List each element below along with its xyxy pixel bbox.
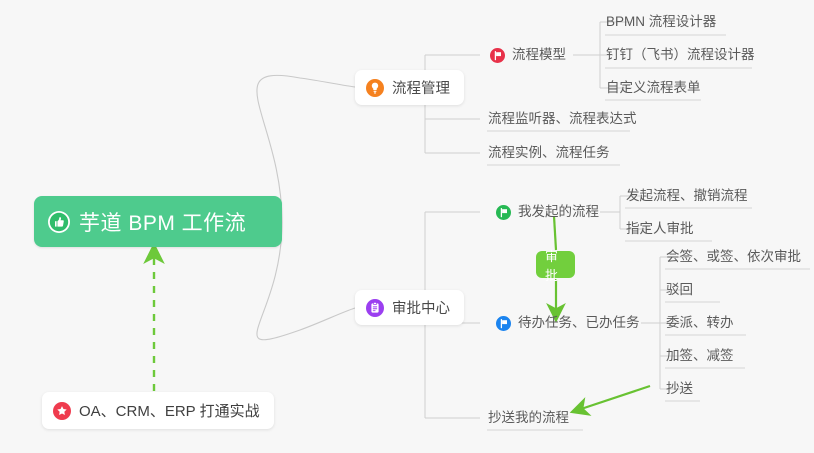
leaf-reject[interactable]: 驳回	[666, 280, 693, 303]
leaf-add-remove-sign[interactable]: 加签、减签	[666, 346, 734, 369]
leaf-dingtalk-designer[interactable]: 钉钉（飞书）流程设计器	[606, 45, 755, 68]
leaf-label: 抄送我的流程	[488, 410, 569, 425]
leaf-label: 会签、或签、依次审批	[666, 249, 801, 264]
leaf-label: 流程实例、流程任务	[488, 145, 610, 160]
flag-icon	[496, 316, 511, 331]
leaf-delegate-transfer[interactable]: 委派、转办	[666, 313, 734, 336]
branch-label-process-management: 流程管理	[392, 77, 450, 98]
leaf-process-instance[interactable]: 流程实例、流程任务	[488, 143, 610, 166]
leaf-label: 抄送	[666, 381, 693, 396]
leaf-carbon-copy[interactable]: 抄送	[666, 379, 693, 402]
leaf-label: 指定人审批	[626, 221, 694, 236]
leaf-label: 流程监听器、流程表达式	[488, 111, 637, 126]
leaf-label: 发起流程、撤销流程	[626, 188, 748, 203]
leaf-bpmn-designer[interactable]: BPMN 流程设计器	[606, 12, 716, 35]
leaf-label: 流程模型	[512, 45, 566, 65]
branch-node-approval-center[interactable]: 审批中心	[355, 290, 464, 325]
leaf-my-initiated-process[interactable]: 我发起的流程	[496, 202, 599, 225]
flag-icon	[496, 205, 511, 220]
thumbs-up-icon	[48, 211, 70, 233]
leaf-label: 委派、转办	[666, 315, 734, 330]
mindmap-canvas: 芋道 BPM 工作流 流程管理 审批中心	[0, 0, 814, 453]
leaf-label: 待办任务、已办任务	[518, 313, 640, 333]
branch-label-approval-center: 审批中心	[392, 297, 450, 318]
star-icon	[53, 402, 71, 420]
leaf-label: BPMN 流程设计器	[606, 14, 716, 29]
callout-label: 审批	[545, 246, 566, 284]
lightbulb-pin-icon	[366, 79, 384, 97]
leaf-assignee-approval[interactable]: 指定人审批	[626, 219, 694, 242]
root-node-label: 芋道 BPM 工作流	[79, 207, 246, 237]
clipboard-icon	[366, 299, 384, 317]
root-node[interactable]: 芋道 BPM 工作流	[34, 196, 282, 247]
leaf-label: 我发起的流程	[518, 202, 599, 222]
leaf-label: 钉钉（飞书）流程设计器	[606, 47, 755, 62]
footer-node-label: OA、CRM、ERP 打通实战	[79, 400, 260, 421]
leaf-process-listener[interactable]: 流程监听器、流程表达式	[488, 109, 637, 132]
leaf-label: 自定义流程表单	[606, 80, 701, 95]
footer-node-oa-crm-erp[interactable]: OA、CRM、ERP 打通实战	[42, 392, 274, 429]
branch-node-process-management[interactable]: 流程管理	[355, 70, 464, 105]
leaf-process-model[interactable]: 流程模型	[490, 45, 566, 68]
flag-icon	[490, 48, 505, 63]
leaf-custom-form[interactable]: 自定义流程表单	[606, 78, 701, 101]
leaf-label: 驳回	[666, 282, 693, 297]
leaf-todo-done-tasks[interactable]: 待办任务、已办任务	[496, 313, 640, 336]
leaf-start-cancel-process[interactable]: 发起流程、撤销流程	[626, 186, 748, 209]
leaf-cc-to-me-process[interactable]: 抄送我的流程	[488, 408, 569, 431]
leaf-countersign[interactable]: 会签、或签、依次审批	[666, 247, 801, 270]
callout-approve: 审批	[536, 251, 575, 278]
leaf-label: 加签、减签	[666, 348, 734, 363]
